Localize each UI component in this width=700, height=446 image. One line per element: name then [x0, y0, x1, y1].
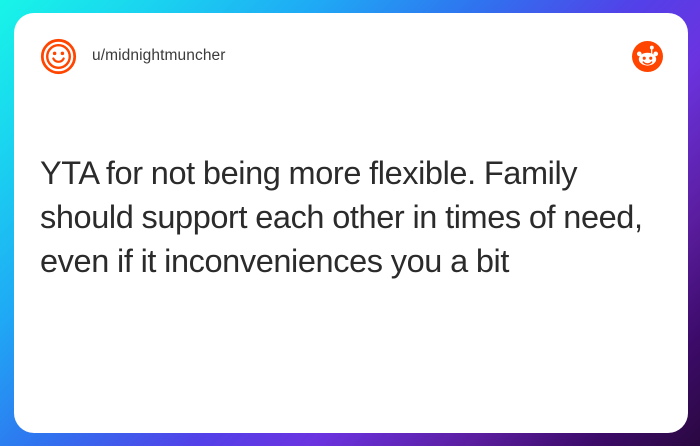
comment-body-text: YTA for not being more flexible. Family …	[40, 151, 664, 283]
reddit-comment-card: u/midnightmuncher YTA for not being more…	[14, 13, 688, 433]
reddit-snoo-icon[interactable]	[632, 41, 663, 72]
smiley-face-avatar-icon[interactable]	[40, 38, 77, 75]
gradient-background: u/midnightmuncher YTA for not being more…	[0, 0, 700, 446]
username-label: u/midnightmuncher	[92, 47, 226, 65]
card-header: u/midnightmuncher	[14, 13, 688, 99]
